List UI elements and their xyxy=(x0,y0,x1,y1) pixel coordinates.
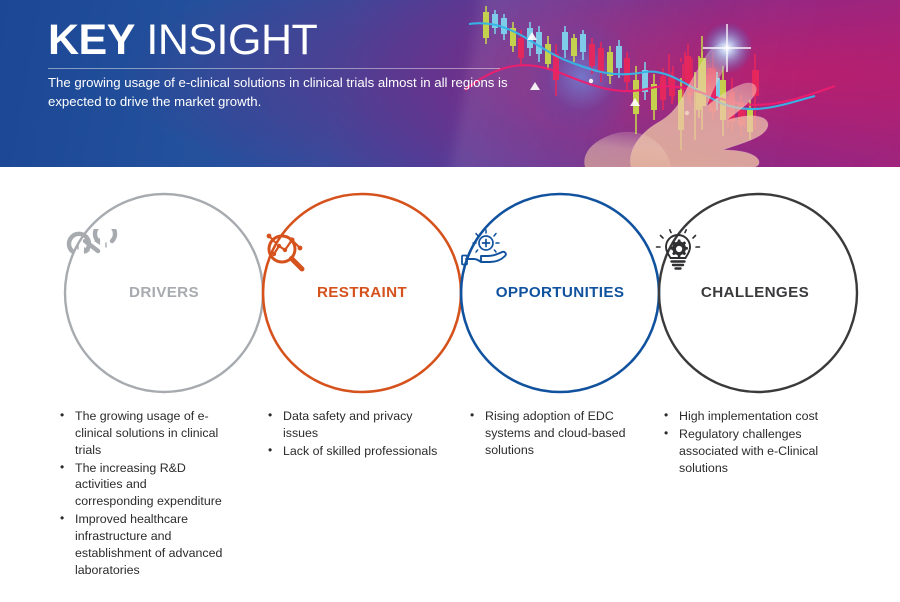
page-title-light: INSIGHT xyxy=(146,16,317,64)
page-title-bold: KEY xyxy=(48,16,135,64)
node-label-restraint[interactable]: RESTRAINT xyxy=(262,284,462,301)
bullet-list: High implementation cost Regulatory chal… xyxy=(664,408,854,476)
bullet-column-drivers: The growing usage of e-clinical solution… xyxy=(60,408,225,580)
page-title: KEY INSIGHT xyxy=(48,18,317,63)
candlestick-stock-chart-icon xyxy=(455,0,900,167)
title-divider xyxy=(48,68,500,69)
node-label-challenges[interactable]: CHALLENGES xyxy=(655,284,855,301)
flow-diagram: DRIVERS RESTRAINT OPPORTUNITIES CHALLENG… xyxy=(0,167,900,397)
infographic-page: KEY INSIGHT The growing usage of e-clini… xyxy=(0,0,900,602)
list-item: Data safety and privacy issues xyxy=(268,408,438,442)
node-label-opportunities[interactable]: OPPORTUNITIES xyxy=(445,284,675,301)
bullet-list: The growing usage of e-clinical solution… xyxy=(60,408,225,579)
bullet-list: Rising adoption of EDC systems and cloud… xyxy=(470,408,635,459)
bullet-column-restraint: Data safety and privacy issues Lack of s… xyxy=(268,408,438,461)
node-label-drivers[interactable]: DRIVERS xyxy=(64,284,264,301)
bullet-column-challenges: High implementation cost Regulatory chal… xyxy=(664,408,854,477)
list-item: The growing usage of e-clinical solution… xyxy=(60,408,225,459)
list-item: Improved healthcare infrastructure and e… xyxy=(60,511,225,578)
bullet-columns: The growing usage of e-clinical solution… xyxy=(0,408,900,602)
list-item: High implementation cost xyxy=(664,408,854,425)
header-subtitle: The growing usage of e-clinical solution… xyxy=(48,74,518,111)
bullet-column-opportunities: Rising adoption of EDC systems and cloud… xyxy=(470,408,635,460)
list-item: The increasing R&D activities and corres… xyxy=(60,460,225,511)
list-item: Lack of skilled professionals xyxy=(268,443,438,460)
bullet-list: Data safety and privacy issues Lack of s… xyxy=(268,408,438,460)
list-item: Regulatory challenges associated with e-… xyxy=(664,426,854,477)
list-item: Rising adoption of EDC systems and cloud… xyxy=(470,408,635,459)
header-banner: KEY INSIGHT The growing usage of e-clini… xyxy=(0,0,900,167)
